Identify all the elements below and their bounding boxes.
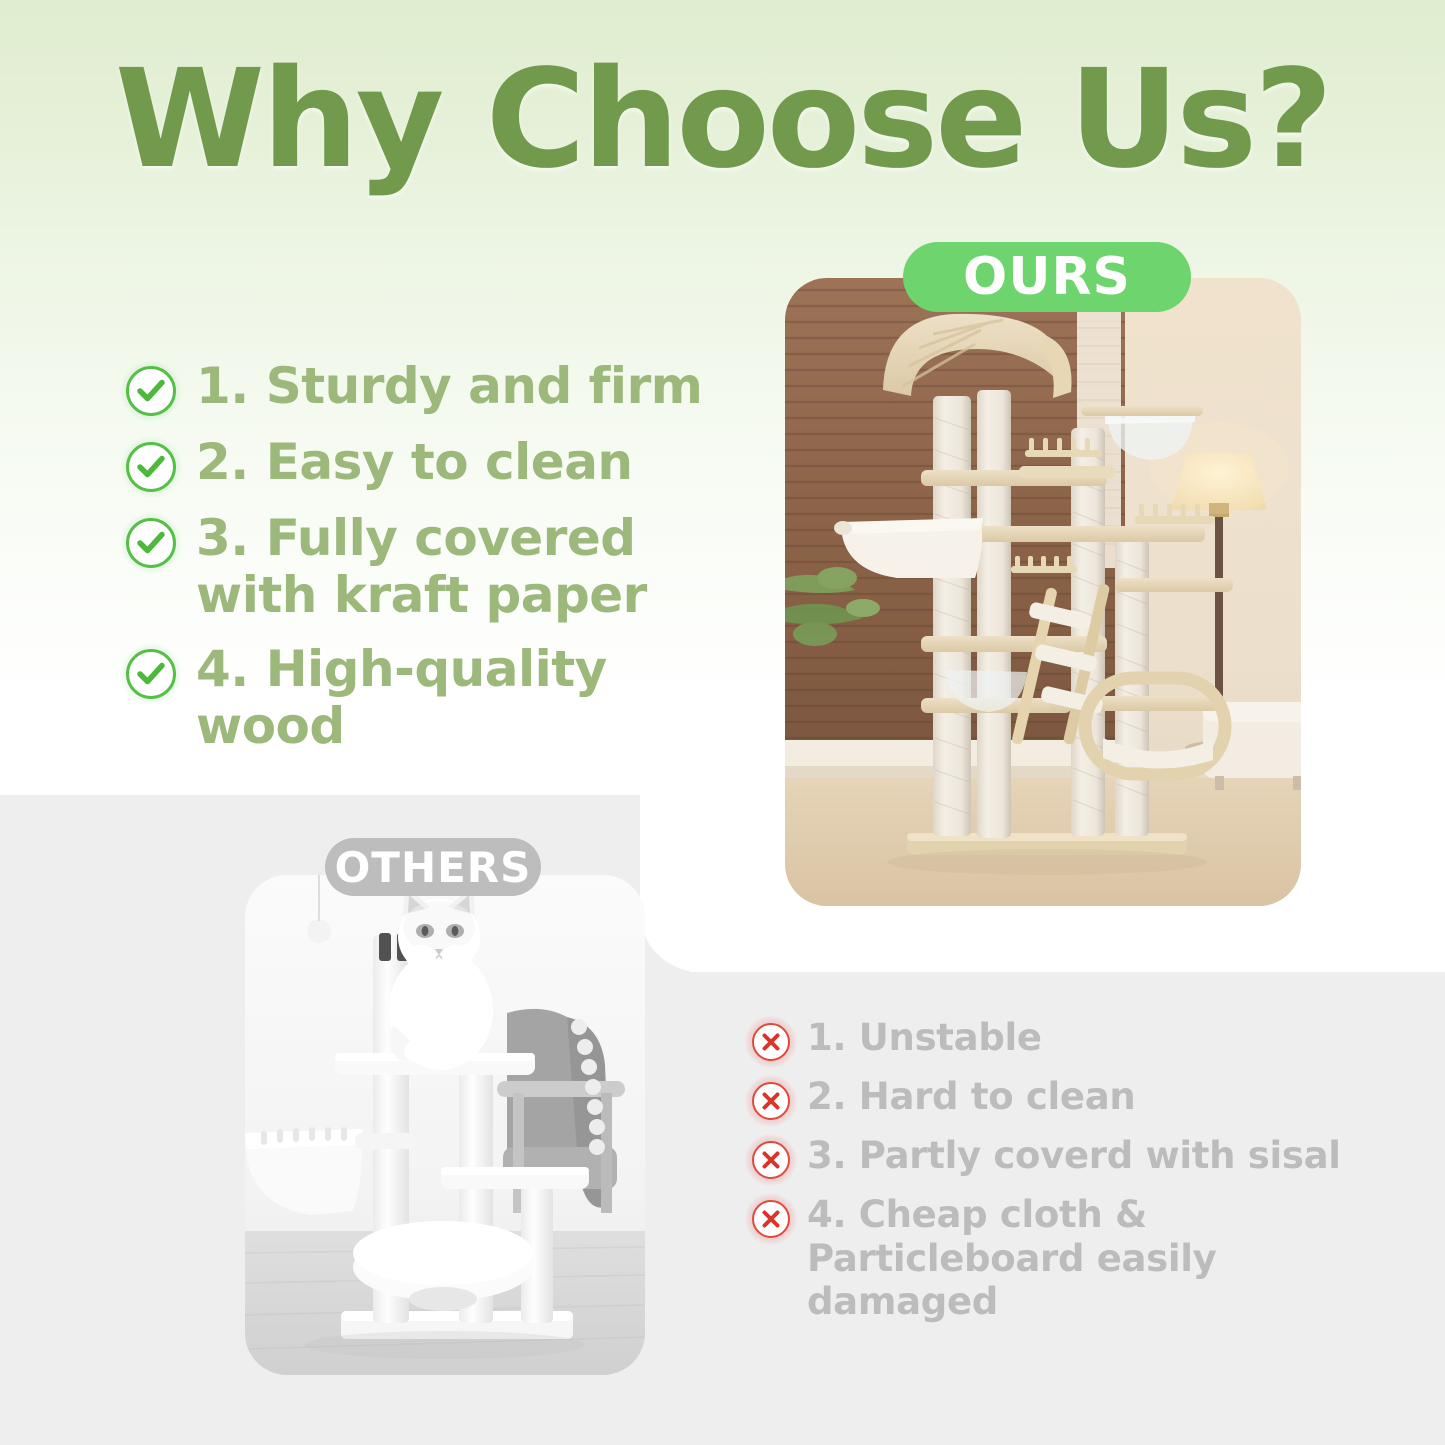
check-circle-icon bbox=[126, 518, 176, 568]
list-item: 3. Fully covered with kraft paper bbox=[126, 510, 766, 623]
list-item: 4. Cheap cloth & Particleboard easily da… bbox=[752, 1193, 1412, 1324]
list-item-label: 2. Easy to clean bbox=[196, 434, 633, 491]
list-item-label: 4. High-quality wood bbox=[196, 641, 766, 754]
list-item-label: 1. Unstable bbox=[807, 1016, 1042, 1060]
list-item-label: 4. Cheap cloth & Particleboard easily da… bbox=[807, 1193, 1412, 1324]
list-item-label: 2. Hard to clean bbox=[807, 1075, 1135, 1119]
check-circle-icon bbox=[126, 649, 176, 699]
list-item: 3. Partly coverd with sisal bbox=[752, 1134, 1412, 1179]
list-item: 2. Hard to clean bbox=[752, 1075, 1412, 1120]
list-item: 1. Unstable bbox=[752, 1016, 1412, 1061]
infographic-page: Why Choose Us? 1. Sturdy and firm 2. Eas… bbox=[0, 0, 1445, 1445]
page-title: Why Choose Us? bbox=[0, 52, 1445, 188]
ours-photo-illustration bbox=[785, 278, 1301, 906]
others-drawbacks-list: 1. Unstable 2. Hard to clean 3. Partly c… bbox=[752, 1016, 1412, 1324]
x-circle-icon bbox=[752, 1082, 790, 1120]
others-photo-illustration bbox=[245, 875, 645, 1375]
list-item: 4. High-quality wood bbox=[126, 641, 766, 754]
x-circle-icon bbox=[752, 1023, 790, 1061]
list-item-label: 3. Fully covered with kraft paper bbox=[196, 510, 766, 623]
x-circle-icon bbox=[752, 1200, 790, 1238]
ours-badge: OURS bbox=[903, 242, 1191, 312]
list-item-label: 3. Partly coverd with sisal bbox=[807, 1134, 1341, 1178]
list-item: 2. Easy to clean bbox=[126, 434, 766, 492]
check-circle-icon bbox=[126, 442, 176, 492]
x-circle-icon bbox=[752, 1141, 790, 1179]
others-badge: OTHERS bbox=[325, 838, 541, 896]
ours-product-photo bbox=[785, 278, 1301, 906]
ours-benefits-list: 1. Sturdy and firm 2. Easy to clean 3. F… bbox=[126, 358, 766, 754]
list-item-label: 1. Sturdy and firm bbox=[196, 358, 702, 415]
others-product-photo bbox=[245, 875, 645, 1375]
list-item: 1. Sturdy and firm bbox=[126, 358, 766, 416]
check-circle-icon bbox=[126, 366, 176, 416]
